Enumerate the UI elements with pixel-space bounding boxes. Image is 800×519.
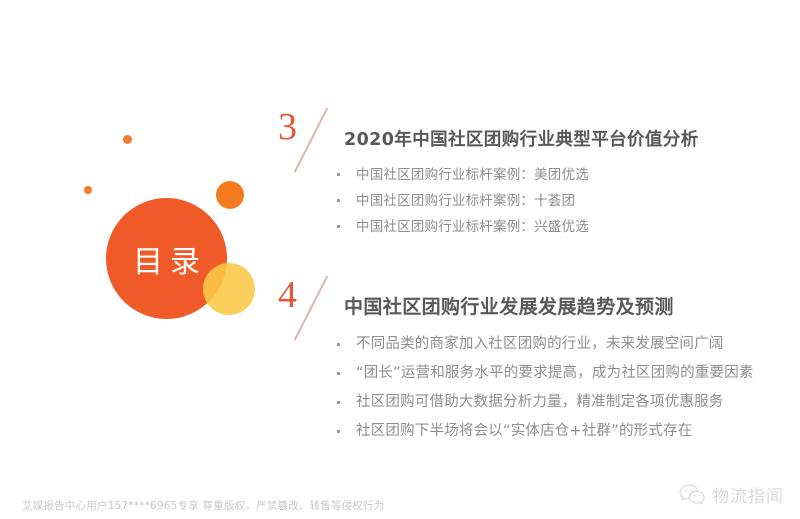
list-item[interactable]: 中国社区团购行业标杆案例：十荟团 <box>334 188 782 214</box>
toc-section-4: 4 中国社区团购行业发展发展趋势及预测 不同品类的商家加入社区团购的行业，未来发… <box>272 276 782 446</box>
list-item[interactable]: “团长”运营和服务水平的要求提高，成为社区团购的重要因素 <box>334 359 782 388</box>
list-item-label: 不同品类的商家加入社区团购的行业，未来发展空间广阔 <box>356 336 724 352</box>
small-dot-icon-b <box>84 186 92 194</box>
section-4-slash-divider <box>294 276 328 341</box>
list-item-label: “团长”运营和服务水平的要求提高，成为社区团购的重要因素 <box>356 365 754 381</box>
list-item[interactable]: 中国社区团购行业标杆案例：兴盛优选 <box>334 214 782 240</box>
list-item[interactable]: 中国社区团购行业标杆案例：美团优选 <box>334 162 782 188</box>
decorative-circle-cluster: 目录 <box>0 0 300 360</box>
copyright-watermark: 艾媒报告中心用户157****6965专享 尊重版权，严禁篡改、转售等侵权行为 <box>22 498 384 513</box>
list-item[interactable]: 社区团购下半场将会以“实体店仓+社群”的形式存在 <box>334 417 782 446</box>
section-4-number: 4 <box>278 276 297 314</box>
section-4-header: 4 中国社区团购行业发展发展趋势及预测 <box>272 276 782 328</box>
list-item-label: 中国社区团购行业标杆案例：十荟团 <box>356 193 575 209</box>
bullet-marker-icon <box>337 343 340 346</box>
section-4-bullet-list: 不同品类的商家加入社区团购的行业，未来发展空间广阔 “团长”运营和服务水平的要求… <box>334 330 782 446</box>
bullet-marker-icon <box>337 173 340 176</box>
bullet-marker-icon <box>337 430 340 433</box>
brand-watermark-label: 物流指闻 <box>712 482 784 507</box>
section-4-title[interactable]: 中国社区团购行业发展发展趋势及预测 <box>344 292 674 319</box>
small-dot-icon-a <box>123 135 132 144</box>
list-item[interactable]: 社区团购可借助大数据分析力量，精准制定各项优惠服务 <box>334 388 782 417</box>
toc-section-3: 3 2020年中国社区团购行业典型平台价值分析 中国社区团购行业标杆案例：美团优… <box>272 108 782 240</box>
list-item-label: 中国社区团购行业标杆案例：兴盛优选 <box>356 219 589 235</box>
bullet-marker-icon <box>337 401 340 404</box>
brand-watermark: 物流指闻 <box>679 482 784 507</box>
list-item-label: 中国社区团购行业标杆案例：美团优选 <box>356 167 589 183</box>
bullet-marker-icon <box>337 372 340 375</box>
section-3-title[interactable]: 2020年中国社区团购行业典型平台价值分析 <box>344 126 699 151</box>
slide-canvas: 目录 3 2020年中国社区团购行业典型平台价值分析 中国社区团购行业标杆案例：… <box>0 0 800 519</box>
wechat-icon <box>679 484 705 506</box>
list-item[interactable]: 不同品类的商家加入社区团购的行业，未来发展空间广阔 <box>334 330 782 359</box>
section-3-number: 3 <box>278 108 297 146</box>
section-3-bullet-list: 中国社区团购行业标杆案例：美团优选 中国社区团购行业标杆案例：十荟团 中国社区团… <box>334 162 782 240</box>
section-3-slash-divider <box>294 108 328 173</box>
bullet-marker-icon <box>337 225 340 228</box>
list-item-label: 社区团购下半场将会以“实体店仓+社群”的形式存在 <box>356 423 692 439</box>
list-item-label: 社区团购可借助大数据分析力量，精准制定各项优惠服务 <box>356 394 724 410</box>
bullet-marker-icon <box>337 199 340 202</box>
section-3-header: 3 2020年中国社区团购行业典型平台价值分析 <box>272 108 782 160</box>
toc-content: 3 2020年中国社区团购行业典型平台价值分析 中国社区团购行业标杆案例：美团优… <box>272 108 782 446</box>
toc-label: 目录 <box>106 198 227 319</box>
